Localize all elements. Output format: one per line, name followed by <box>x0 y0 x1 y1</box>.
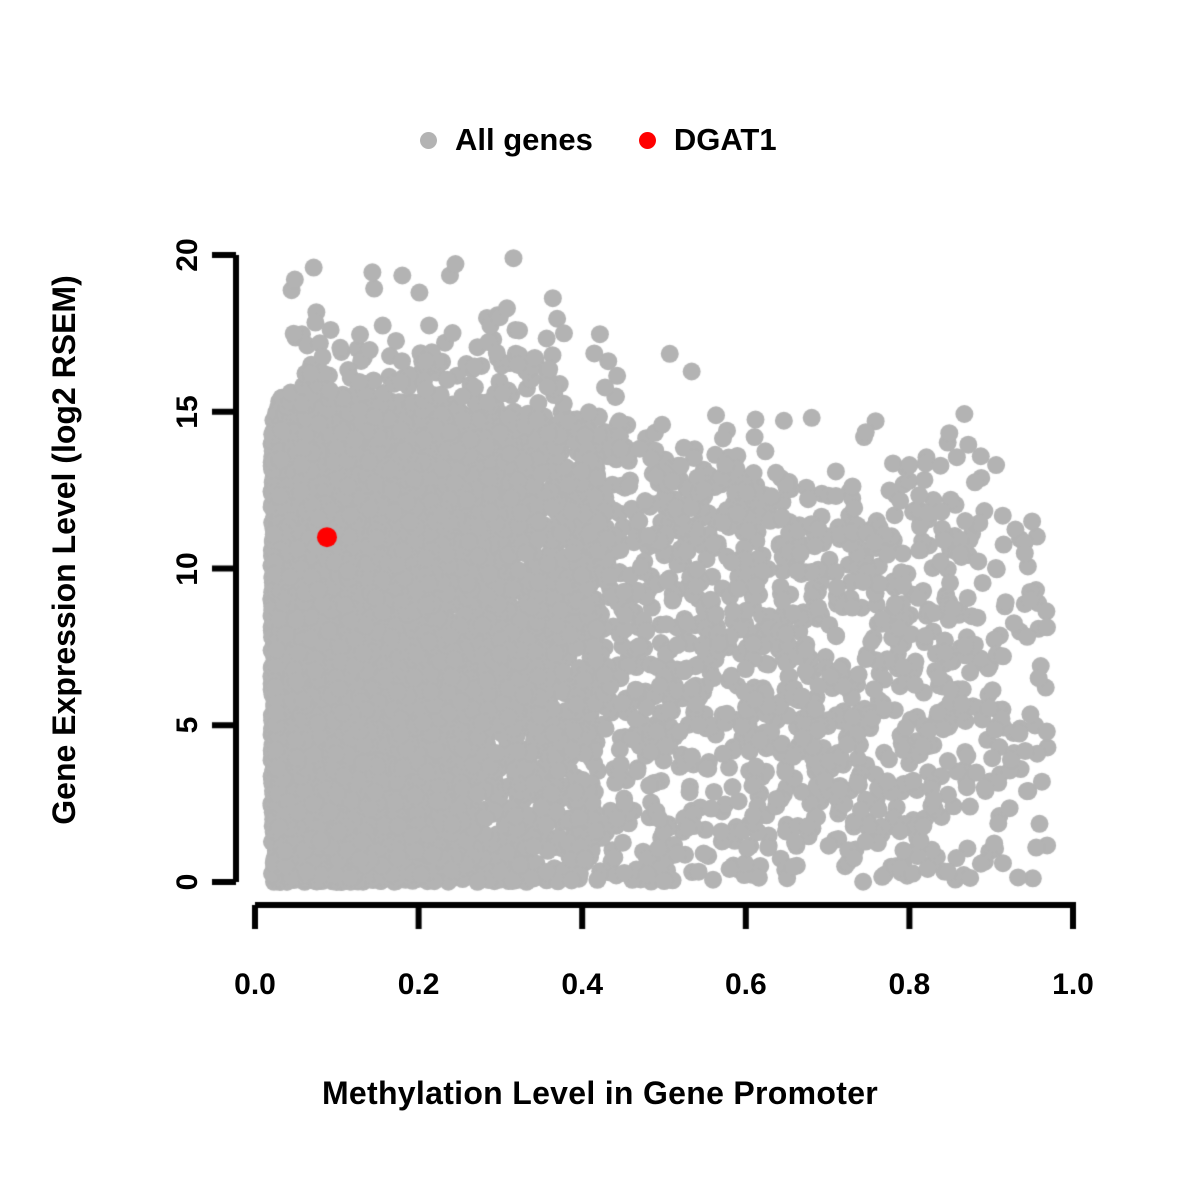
figure-root: All genes DGAT1 Methylation Level in Gen… <box>0 0 1200 1200</box>
y-tick-label: 15 <box>171 395 205 428</box>
legend-entry-all-genes: All genes <box>420 122 593 158</box>
x-tick-label: 0.8 <box>889 968 931 1002</box>
legend-label-all-genes: All genes <box>455 122 593 158</box>
legend-entry-dgat1: DGAT1 <box>639 122 777 158</box>
y-tick-label: 10 <box>171 552 205 585</box>
scatter-plot-canvas <box>0 0 1200 1200</box>
x-tick-label: 0.4 <box>561 968 603 1002</box>
x-tick-label: 0.2 <box>398 968 440 1002</box>
gray-dot-icon <box>420 132 437 149</box>
x-axis-title: Methylation Level in Gene Promoter <box>0 1075 1200 1112</box>
y-tick-label: 5 <box>171 717 205 734</box>
legend: All genes DGAT1 <box>420 112 777 168</box>
legend-label-dgat1: DGAT1 <box>674 122 777 158</box>
x-tick-label: 0.6 <box>725 968 767 1002</box>
x-tick-label: 0.0 <box>234 968 276 1002</box>
red-dot-icon <box>639 132 656 149</box>
y-axis-title: Gene Expression Level (log2 RSEM) <box>46 100 92 1000</box>
y-tick-label: 20 <box>171 238 205 271</box>
y-tick-label: 0 <box>171 874 205 891</box>
x-tick-label: 1.0 <box>1052 968 1094 1002</box>
